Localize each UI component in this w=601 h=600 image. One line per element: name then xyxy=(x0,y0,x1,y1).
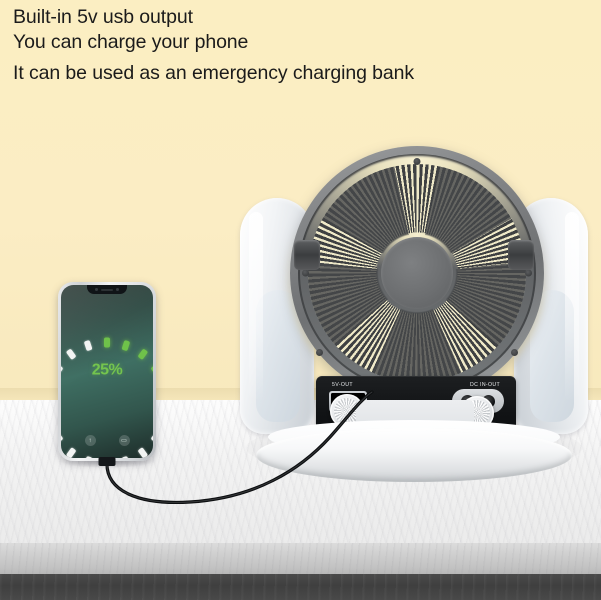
background-counter-edge xyxy=(0,543,601,576)
phone-notch xyxy=(87,285,127,294)
battery-ring-segment-empty xyxy=(84,455,93,458)
product-marketing-image: Built-in 5v usb output You can charge yo… xyxy=(0,0,601,600)
fan-screw-left xyxy=(302,270,309,277)
headline-line-3: It can be used as an emergency charging … xyxy=(13,61,573,86)
headline-block: Built-in 5v usb output You can charge yo… xyxy=(13,5,573,86)
fan-screw-bottom-right xyxy=(511,349,518,356)
headline-line-2: You can charge your phone xyxy=(13,30,573,55)
usb-port-label: 5V-OUT xyxy=(332,382,353,388)
fan-arm-right-highlight xyxy=(565,212,579,402)
phone-charging-connector xyxy=(99,457,116,466)
fan-arm-left-highlight xyxy=(249,212,263,402)
earpiece-speaker-icon xyxy=(101,289,113,291)
smartphone: 25% ↑ ▭ xyxy=(58,282,156,461)
dc-jack-label: DC IN-OUT xyxy=(470,382,500,388)
phone-body: 25% ↑ ▭ xyxy=(58,282,156,461)
fan-pivot-left xyxy=(294,240,320,270)
fan-hub xyxy=(381,237,453,309)
flashlight-icon[interactable]: ↑ xyxy=(85,435,96,446)
fan-product: 5V-OUT DC IN-OUT ⏻ FAN 1-2 LED POWER CHA… xyxy=(238,128,590,498)
battery-charging-ring: 25% xyxy=(71,334,143,406)
phone-screen[interactable]: 25% ↑ ▭ xyxy=(61,285,153,458)
face-sensor-icon xyxy=(116,288,119,291)
headline-line-1: Built-in 5v usb output xyxy=(13,5,573,30)
battery-ring-segment-filled xyxy=(104,337,110,347)
battery-ring-segment-empty xyxy=(121,455,130,458)
fan-screw-top xyxy=(414,158,421,165)
lockscreen-shortcuts: ↑ ▭ xyxy=(61,435,153,446)
fan-base xyxy=(256,428,572,482)
background-floor xyxy=(0,574,601,600)
camera-icon[interactable]: ▭ xyxy=(119,435,130,446)
front-camera-icon xyxy=(95,288,98,291)
fan-screw-right xyxy=(525,270,532,277)
battery-ring-segment-empty xyxy=(137,447,148,458)
fan-pivot-right xyxy=(508,240,534,270)
battery-ring-segment-empty xyxy=(66,447,77,458)
fan-screw-bottom-left xyxy=(316,349,323,356)
fan-head xyxy=(290,146,544,400)
